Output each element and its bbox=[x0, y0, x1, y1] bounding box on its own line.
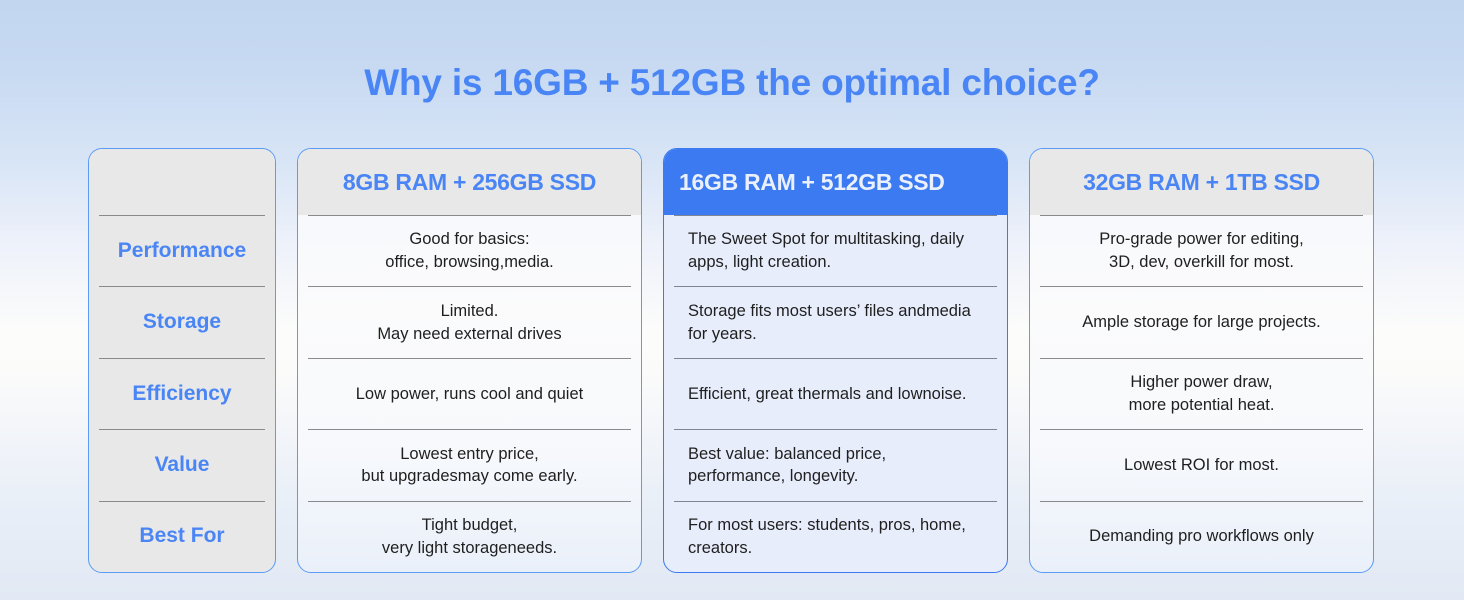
column-header-8gb: 8GB RAM + 256GB SSD bbox=[298, 149, 641, 215]
spec-rows-32gb: Pro-grade power for editing,3D, dev, ove… bbox=[1030, 215, 1373, 572]
comparison-column-labels: Performance Storage Efficiency Value Bes… bbox=[88, 148, 276, 573]
row-label-best-for: Best For bbox=[99, 501, 265, 572]
cell-32gb-performance: Pro-grade power for editing,3D, dev, ove… bbox=[1040, 215, 1363, 286]
cell-16gb-storage: Storage fits most users’ files andmedia … bbox=[674, 286, 997, 357]
cell-32gb-best-for: Demanding pro workflows only bbox=[1040, 501, 1363, 572]
cell-16gb-efficiency: Efficient, great thermals and lownoise. bbox=[674, 358, 997, 429]
column-header-32gb: 32GB RAM + 1TB SSD bbox=[1030, 149, 1373, 215]
spec-rows-16gb: The Sweet Spot for multitasking, daily a… bbox=[664, 215, 1007, 572]
column-header-16gb: 16GB RAM + 512GB SSD bbox=[664, 149, 1007, 215]
row-label-efficiency: Efficiency bbox=[99, 358, 265, 429]
row-label-storage: Storage bbox=[99, 286, 265, 357]
cell-8gb-efficiency: Low power, runs cool and quiet bbox=[308, 358, 631, 429]
label-rows: Performance Storage Efficiency Value Bes… bbox=[89, 215, 275, 572]
column-header-labels bbox=[89, 149, 275, 215]
comparison-column-16gb-recommended[interactable]: 16GB RAM + 512GB SSD The Sweet Spot for … bbox=[663, 148, 1008, 573]
page-title: Why is 16GB + 512GB the optimal choice? bbox=[0, 62, 1464, 104]
cell-16gb-best-for: For most users: students, pros, home, cr… bbox=[674, 501, 997, 572]
row-label-performance: Performance bbox=[99, 215, 265, 286]
comparison-column-32gb[interactable]: 32GB RAM + 1TB SSD Pro-grade power for e… bbox=[1029, 148, 1374, 573]
comparison-matrix: Performance Storage Efficiency Value Bes… bbox=[88, 148, 1378, 573]
cell-8gb-performance: Good for basics:office, browsing,media. bbox=[308, 215, 631, 286]
cell-8gb-storage: Limited.May need external drives bbox=[308, 286, 631, 357]
cell-8gb-value: Lowest entry price,but upgradesmay come … bbox=[308, 429, 631, 500]
cell-16gb-value: Best value: balanced price, performance,… bbox=[674, 429, 997, 500]
spec-rows-8gb: Good for basics:office, browsing,media. … bbox=[298, 215, 641, 572]
cell-32gb-efficiency: Higher power draw,more potential heat. bbox=[1040, 358, 1363, 429]
cell-32gb-storage: Ample storage for large projects. bbox=[1040, 286, 1363, 357]
row-label-value: Value bbox=[99, 429, 265, 500]
comparison-column-8gb[interactable]: 8GB RAM + 256GB SSD Good for basics:offi… bbox=[297, 148, 642, 573]
cell-16gb-performance: The Sweet Spot for multitasking, daily a… bbox=[674, 215, 997, 286]
cell-8gb-best-for: Tight budget,very light storageneeds. bbox=[308, 501, 631, 572]
cell-32gb-value: Lowest ROI for most. bbox=[1040, 429, 1363, 500]
